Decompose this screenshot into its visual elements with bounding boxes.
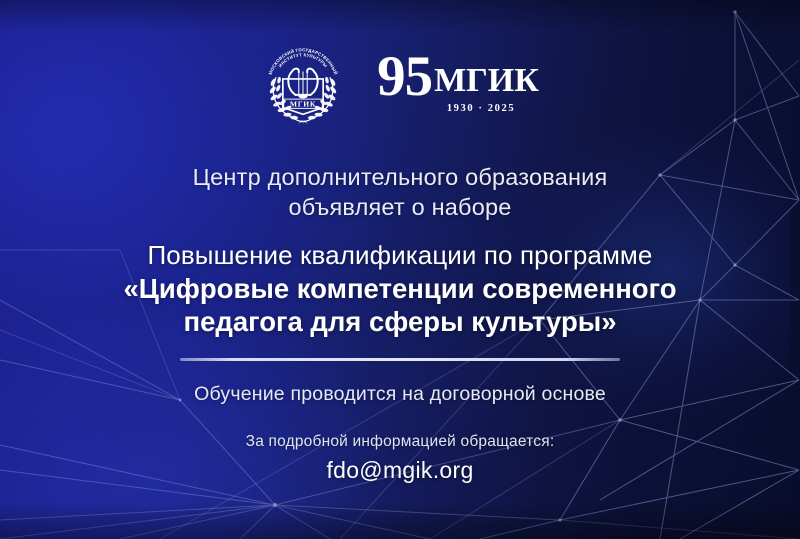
lead-line-2: объявляет о наборе [193,192,608,222]
anniversary-abbr: МГИК [434,64,539,101]
svg-text:МОСКОВСКИЙ ГОСУДАРСТВЕННЫЙ: МОСКОВСКИЙ ГОСУДАРСТВЕННЫЙ [268,47,339,75]
headline-line-3: педагога для сферы культуры» [124,305,677,338]
anniversary-lockup: 95 МГИК 1930 · 2025 [377,53,539,115]
promo-banner: МОСКОВСКИЙ ГОСУДАРСТВЕННЫЙ ИНСТИТУТ КУЛЬ… [0,0,800,539]
contact-email[interactable]: fdo@mgik.org [326,457,473,484]
svg-text:МГИК: МГИК [290,99,316,108]
lead-line-1: Центр дополнительного образования [193,162,608,192]
banner-content: МОСКОВСКИЙ ГОСУДАРСТВЕННЫЙ ИНСТИТУТ КУЛЬ… [0,0,800,539]
anniversary-years: 1930 · 2025 [447,104,515,115]
anniversary-main: 95 МГИК [377,53,539,101]
anniversary-number: 95 [377,53,432,101]
terms-text: Обучение проводится на договорной основе [194,383,606,406]
section-divider [180,358,620,361]
headline-line-2: «Цифровые компетенции современного [124,272,677,305]
mgik-seal-icon: МОСКОВСКИЙ ГОСУДАРСТВЕННЫЙ ИНСТИТУТ КУЛЬ… [261,42,345,126]
contact-label: За подробной информацией обращается: [246,433,555,451]
logo-row: МОСКОВСКИЙ ГОСУДАРСТВЕННЫЙ ИНСТИТУТ КУЛЬ… [261,42,539,126]
lead-text: Центр дополнительного образования объявл… [193,162,608,222]
headline: Повышение квалификации по программе «Циф… [124,240,677,338]
headline-line-1: Повышение квалификации по программе [124,240,677,271]
